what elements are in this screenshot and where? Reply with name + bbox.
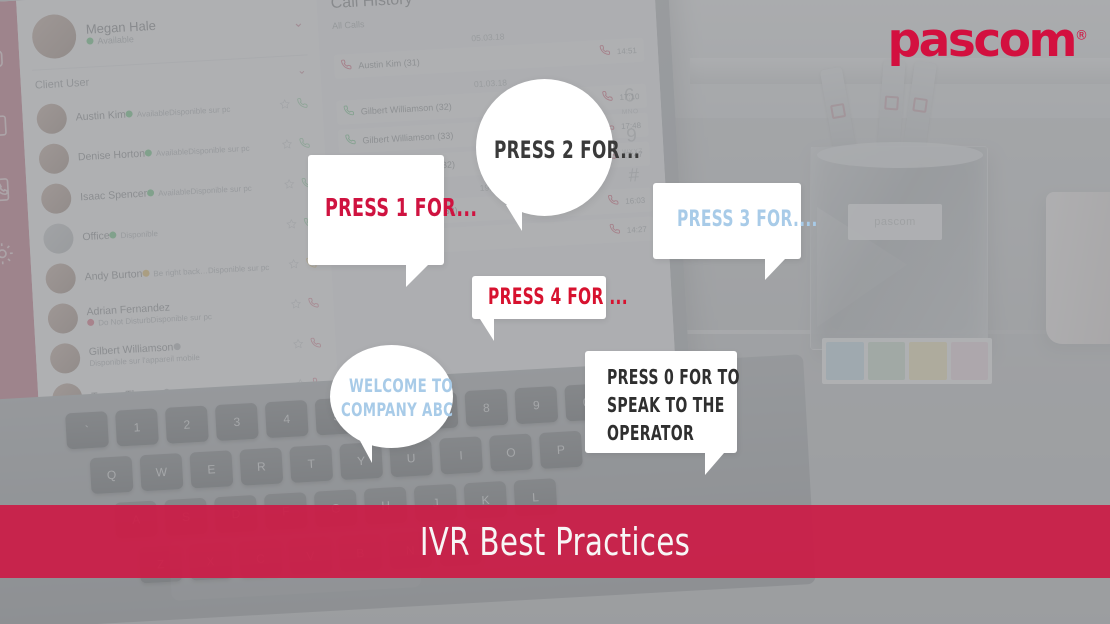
speech-bubble-tail xyxy=(765,259,785,280)
speech-bubble-press-0-line-3: OPERATOR xyxy=(607,421,694,445)
speech-bubble-tail xyxy=(506,205,522,231)
trademark-symbol: ® xyxy=(1075,28,1088,43)
speech-bubble-tail xyxy=(406,265,428,287)
speech-bubble-tail xyxy=(705,453,724,475)
speech-bubble-press-0-line-2: SPEAK TO THE xyxy=(607,393,725,417)
speech-bubble-press-0: PRESS 0 FOR TO SPEAK TO THE OPERATOR xyxy=(585,351,737,453)
speech-bubble-press-4: PRESS 4 FOR ... xyxy=(472,276,606,319)
speech-bubble-press-2: PRESS 2 FOR... xyxy=(476,79,613,216)
speech-bubble-welcome-line-2: COMPANY ABC xyxy=(341,399,453,421)
pascom-logo-text: pascom xyxy=(888,13,1075,68)
speech-bubble-press-3: PRESS 3 FOR.... xyxy=(653,183,801,259)
speech-bubble-press-3-text: PRESS 3 FOR.... xyxy=(677,207,818,232)
speech-bubble-press-2-text: PRESS 2 FOR... xyxy=(494,136,640,164)
speech-bubble-press-4-text: PRESS 4 FOR ... xyxy=(488,285,628,310)
page-title: IVR Best Practices xyxy=(78,505,1033,578)
pascom-logo: pascom® xyxy=(888,17,1088,64)
speech-bubble-welcome: WELCOME TO COMPANY ABC xyxy=(330,345,453,448)
ivr-best-practices-slide: Megan Hale Available ⌄ Client User ⌄ Aus… xyxy=(0,0,1110,624)
speech-bubble-press-0-line-1: PRESS 0 FOR TO xyxy=(607,365,740,389)
speech-bubble-tail xyxy=(358,437,372,463)
speech-bubble-welcome-line-1: WELCOME TO xyxy=(349,375,453,397)
speech-bubble-press-1-text: PRESS 1 FOR... xyxy=(325,193,477,222)
title-banner: IVR Best Practices xyxy=(0,505,1110,578)
speech-bubble-press-1: PRESS 1 FOR... xyxy=(308,155,444,265)
speech-bubble-tail xyxy=(480,319,494,341)
